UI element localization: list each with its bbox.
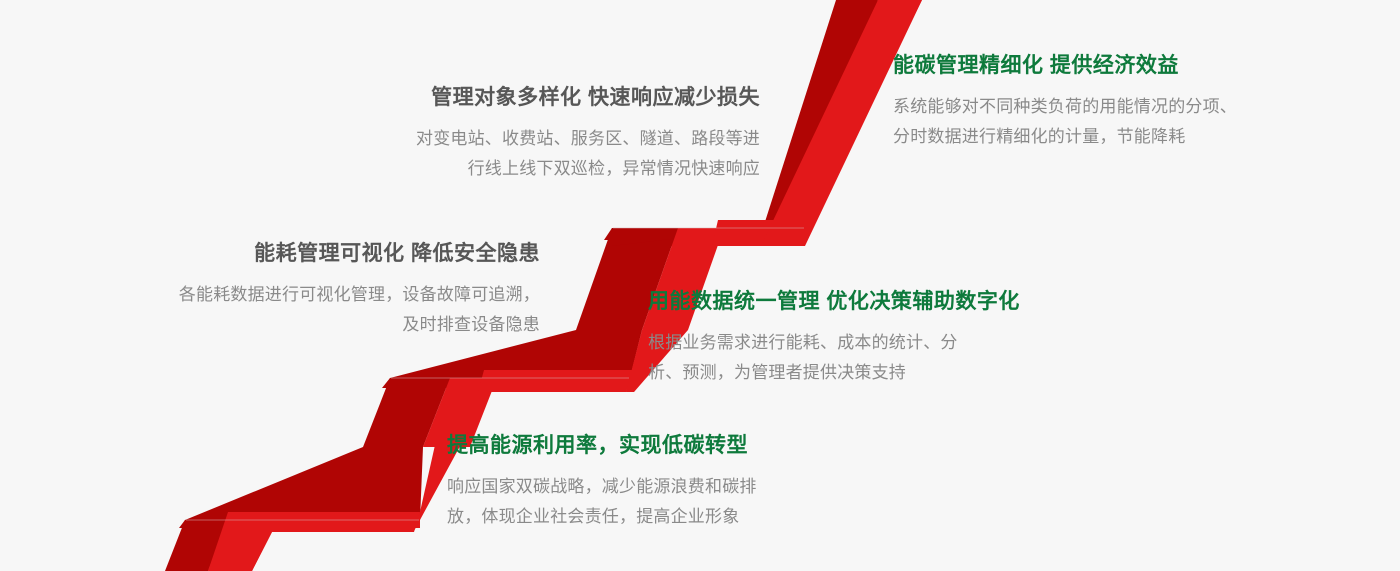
annotation-block-top-right: 能碳管理精细化 提供经济效益 系统能够对不同种类负荷的用能情况的分项、 分时数据… — [893, 52, 1323, 152]
annotation-block-bottom: 提高能源利用率，实现低碳转型 响应国家双碳战略，减少能源浪费和碳排 放，体现企业… — [447, 432, 847, 532]
annotation-title: 提高能源利用率，实现低碳转型 — [447, 432, 847, 460]
diagram-canvas: 能碳管理精细化 提供经济效益 系统能够对不同种类负荷的用能情况的分项、 分时数据… — [0, 0, 1400, 571]
annotation-block-mid-right: 用能数据统一管理 优化决策辅助数字化 根据业务需求进行能耗、成本的统计、分 析、… — [648, 288, 1088, 388]
annotation-body-line: 根据业务需求进行能耗、成本的统计、分 — [648, 328, 1088, 358]
annotation-body-line: 各能耗数据进行可视化管理，设备故障可追溯， — [66, 280, 540, 310]
annotation-body: 对变电站、收费站、服务区、隧道、路段等进 行线上线下双巡检，异常情况快速响应 — [300, 124, 760, 184]
annotation-title: 用能数据统一管理 优化决策辅助数字化 — [648, 288, 1088, 316]
annotation-title: 管理对象多样化 快速响应减少损失 — [300, 84, 760, 112]
annotation-body: 根据业务需求进行能耗、成本的统计、分 析、预测，为管理者提供决策支持 — [648, 328, 1088, 388]
annotation-body-line: 系统能够对不同种类负荷的用能情况的分项、 — [893, 92, 1323, 122]
annotation-body-line: 析、预测，为管理者提供决策支持 — [648, 358, 1088, 388]
annotation-block-top-left: 管理对象多样化 快速响应减少损失 对变电站、收费站、服务区、隧道、路段等进 行线… — [300, 84, 760, 184]
annotation-body: 系统能够对不同种类负荷的用能情况的分项、 分时数据进行精细化的计量，节能降耗 — [893, 92, 1323, 152]
annotation-body-line: 响应国家双碳战略，减少能源浪费和碳排 — [447, 472, 847, 502]
annotation-body-line: 分时数据进行精细化的计量，节能降耗 — [893, 122, 1323, 152]
annotation-body: 各能耗数据进行可视化管理，设备故障可追溯， 及时排查设备隐患 — [66, 280, 540, 340]
annotation-title: 能耗管理可视化 降低安全隐患 — [66, 240, 540, 268]
annotation-title: 能碳管理精细化 提供经济效益 — [893, 52, 1323, 80]
annotation-body-line: 行线上线下双巡检，异常情况快速响应 — [300, 154, 760, 184]
annotation-body: 响应国家双碳战略，减少能源浪费和碳排 放，体现企业社会责任，提高企业形象 — [447, 472, 847, 532]
annotation-block-mid-left: 能耗管理可视化 降低安全隐患 各能耗数据进行可视化管理，设备故障可追溯， 及时排… — [66, 240, 540, 340]
annotation-body-line: 对变电站、收费站、服务区、隧道、路段等进 — [300, 124, 760, 154]
annotation-body-line: 放，体现企业社会责任，提高企业形象 — [447, 502, 847, 532]
annotation-body-line: 及时排查设备隐患 — [66, 310, 540, 340]
